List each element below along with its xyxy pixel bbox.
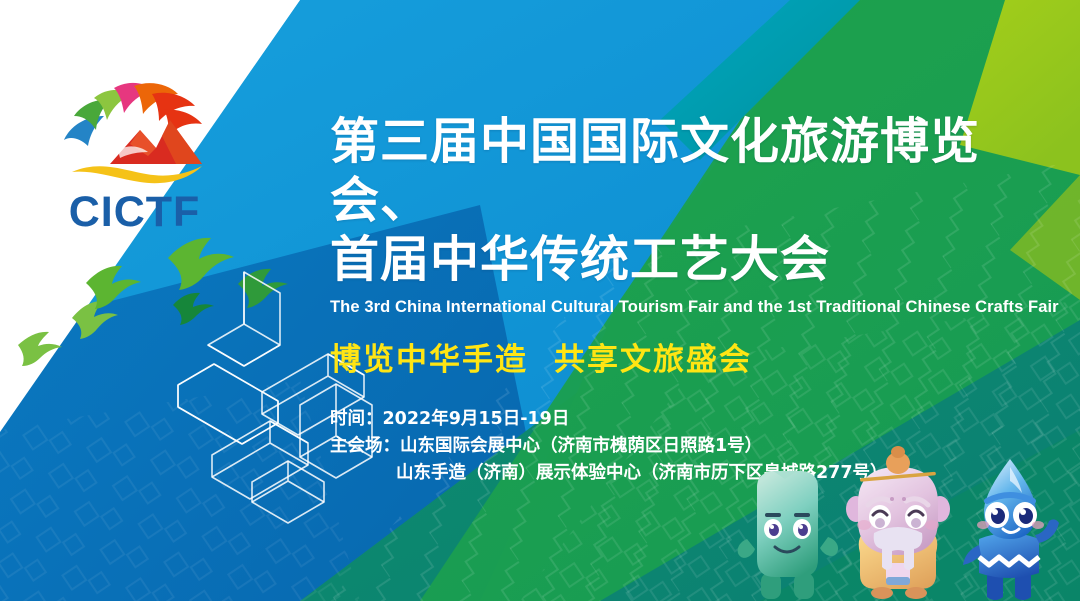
text-content: 第三届中国国际文化旅游博览会、 首届中华传统工艺大会 The 3rd China… — [330, 112, 1060, 487]
slogan-part-2: 共享文旅盛会 — [554, 342, 752, 378]
slogan: 博览中华手造共享文旅盛会 — [330, 334, 1060, 379]
event-time: 时间：2022年9月15日-19日 — [330, 406, 1060, 433]
title-line-1: 第三届中国国际文化旅游博览会、 — [330, 112, 1060, 230]
colorful-fan-mountain-logo-icon — [52, 72, 217, 187]
title-line-2: 首届中华传统工艺大会 — [330, 230, 1060, 289]
brand-logo: CICTF — [52, 72, 217, 242]
subtitle-english: The 3rd China International Cultural Tou… — [330, 298, 1060, 317]
teal-block-mascot — [735, 461, 840, 601]
blue-droplet-mascot — [953, 453, 1068, 601]
brand-logo-text: CICTF — [52, 188, 217, 237]
mascot-group — [735, 440, 1080, 601]
slogan-part-1: 博览中华手造 — [330, 342, 528, 378]
promo-banner: CICTF 第三届中国国际文化旅游博览会、 首届中华传统工艺大会 The 3rd… — [0, 0, 1080, 601]
elder-sage-mascot — [838, 441, 958, 601]
